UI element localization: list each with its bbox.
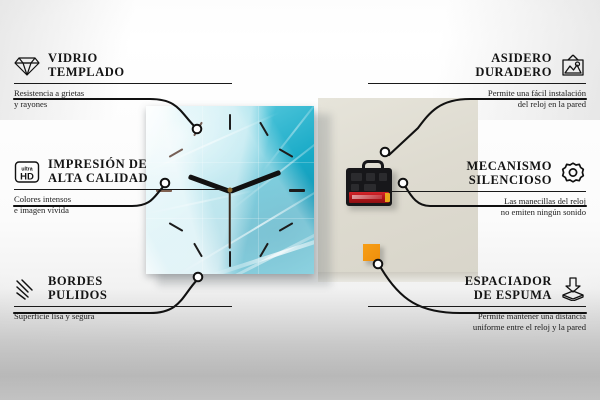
feature-desc-line1: Permite una fácil instalación: [368, 88, 586, 99]
feature-description: Colores intensos e imagen vívida: [14, 194, 232, 217]
feature-description: Permite mantener una distancia uniforme …: [368, 311, 586, 334]
connector-dot-vidrio: [193, 125, 202, 134]
feature-description: Resistencia a grietas y rayones: [14, 88, 232, 111]
feature-mecanismo-silencioso: MECANISMO SILENCIOSO Las manecillas del …: [368, 160, 586, 219]
svg-text:HD: HD: [20, 171, 34, 182]
feature-title-line1: ESPACIADOR: [465, 275, 552, 289]
feature-title-line1: MECANISMO: [466, 160, 552, 174]
feature-desc-line2: del reloj en la pared: [368, 99, 586, 110]
feature-bordes-pulidos: BORDES PULIDOS Superficie lisa y segura: [14, 275, 232, 322]
feature-asidero-duradero: ASIDERO DURADERO Permite una fácil insta…: [368, 52, 586, 111]
feature-divider: [368, 306, 586, 307]
feature-title-line2: DE ESPUMA: [474, 289, 552, 303]
feature-divider: [14, 189, 232, 190]
polished-edges-icon: [14, 276, 40, 302]
feature-desc-line2: e imagen vívida: [14, 205, 232, 216]
feature-title-line2: PULIDOS: [48, 289, 107, 303]
feature-desc-line1: Permite mantener una distancia: [368, 311, 586, 322]
feature-desc-line1: Las manecillas del reloj: [368, 196, 586, 207]
infographic-canvas: VIDRIO TEMPLADO Resistencia a grietas y …: [0, 0, 600, 400]
clock-center-hub: [228, 188, 233, 193]
feature-description: Las manecillas del reloj no emiten ningú…: [368, 196, 586, 219]
feature-title: IMPRESIÓN DE ALTA CALIDAD: [48, 158, 148, 185]
feature-title-line1: ASIDERO: [491, 52, 552, 66]
feature-description: Permite una fácil instalación del reloj …: [368, 88, 586, 111]
feature-title-line1: VIDRIO: [48, 52, 125, 66]
feature-description: Superficie lisa y segura: [14, 311, 232, 322]
feature-title: BORDES PULIDOS: [48, 275, 107, 302]
foam-spacer-icon: [560, 276, 586, 302]
feature-divider: [14, 83, 232, 84]
feature-title: VIDRIO TEMPLADO: [48, 52, 125, 79]
feature-title-line1: BORDES: [48, 275, 107, 289]
feature-title-line2: SILENCIOSO: [469, 174, 552, 188]
feature-title: ASIDERO DURADERO: [475, 52, 552, 79]
ultra-hd-icon: ultra HD: [14, 159, 40, 185]
feature-title: MECANISMO SILENCIOSO: [466, 160, 552, 187]
feature-desc-line1: Superficie lisa y segura: [14, 311, 232, 322]
feature-title-line2: TEMPLADO: [48, 66, 125, 80]
feature-vidrio-templado: VIDRIO TEMPLADO Resistencia a grietas y …: [14, 52, 232, 111]
wall-hanger-icon: [560, 53, 586, 79]
diamond-icon: [14, 53, 40, 79]
feature-title-line1: IMPRESIÓN DE: [48, 158, 148, 172]
feature-desc-line2: no emiten ningún sonido: [368, 207, 586, 218]
feature-desc-line1: Resistencia a grietas: [14, 88, 232, 99]
feature-espaciador-de-espuma: ESPACIADOR DE ESPUMA Permite mantener un…: [368, 275, 586, 334]
feature-title-line2: ALTA CALIDAD: [48, 172, 148, 186]
feature-divider: [14, 306, 232, 307]
feature-divider: [368, 83, 586, 84]
feature-title-line2: DURADERO: [475, 66, 552, 80]
connector-dot-espaciador: [374, 260, 383, 269]
feature-desc-line2: y rayones: [14, 99, 232, 110]
feature-desc-line2: uniforme entre el reloj y la pared: [368, 322, 586, 333]
feature-divider: [368, 191, 586, 192]
feature-desc-line1: Colores intensos: [14, 194, 232, 205]
feature-impresion-alta-calidad: ultra HD IMPRESIÓN DE ALTA CALIDAD Color…: [14, 158, 232, 217]
feature-title: ESPACIADOR DE ESPUMA: [465, 275, 552, 302]
connector-dot-asidero: [381, 148, 390, 157]
gear-icon: [560, 161, 586, 187]
